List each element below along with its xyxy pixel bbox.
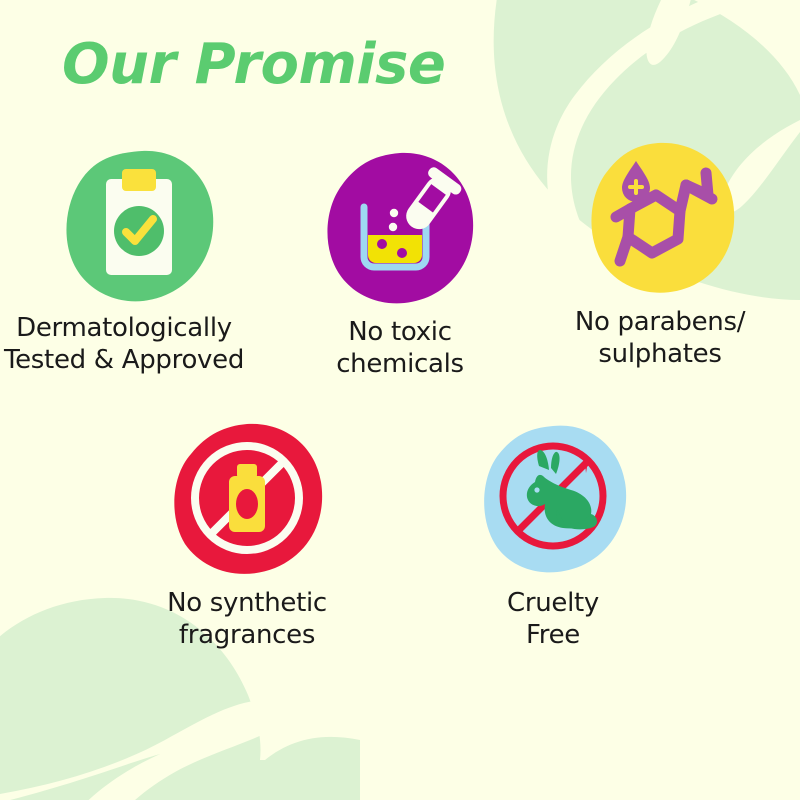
beaker-test-tube-icon: [320, 149, 480, 309]
badge-no-synthetic-fragrances[interactable]: No synthetic fragrances: [149, 420, 345, 651]
badge-row-top: Dermatologically Tested & Approved: [0, 145, 800, 380]
badge-no-parabens-sulphates[interactable]: No parabens/ sulphates: [562, 139, 758, 370]
no-animal-testing-rabbit-icon: [473, 420, 633, 580]
badge-row-bottom: No synthetic fragrances: [0, 420, 800, 651]
badge-label: No parabens/ sulphates: [545, 307, 775, 370]
badge-cruelty-free[interactable]: Cruelty Free: [455, 420, 651, 651]
badge-label: Dermatologically Tested & Approved: [0, 313, 254, 376]
badge-label: Cruelty Free: [458, 588, 648, 651]
no-perfume-bottle-icon: [167, 420, 327, 580]
molecule-droplet-icon: [580, 139, 740, 299]
badge-label: No synthetic fragrances: [132, 588, 362, 651]
page-title: Our Promise: [62, 32, 445, 97]
background-decoration: [0, 0, 800, 800]
badge-label: No toxic chemicals: [300, 317, 500, 380]
promise-infographic: Our Promise Dermatologically Tested & Ap…: [0, 0, 800, 800]
clipboard-check-icon: [60, 145, 220, 305]
badge-no-toxic-chemicals[interactable]: No toxic chemicals: [302, 149, 498, 380]
badge-dermatologically-tested[interactable]: Dermatologically Tested & Approved: [42, 145, 238, 376]
